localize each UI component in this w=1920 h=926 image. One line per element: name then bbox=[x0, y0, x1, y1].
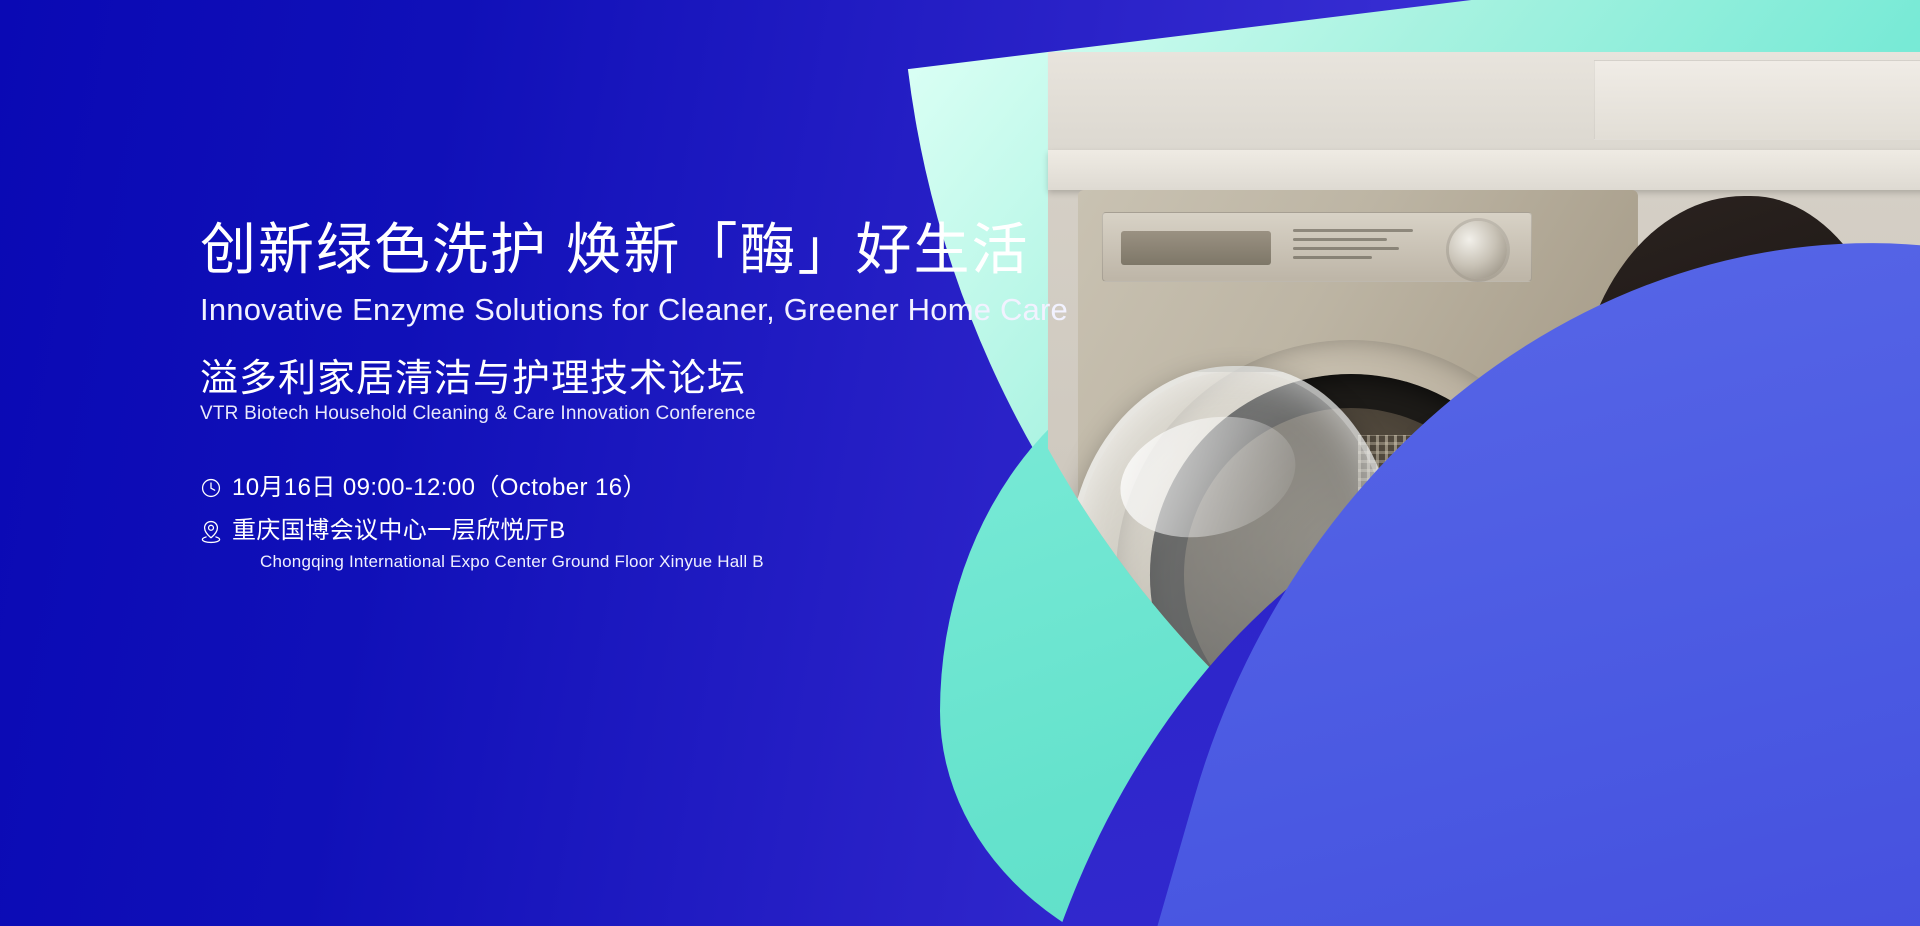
event-datetime-row: 10月16日 09:00-12:00（October 16） bbox=[200, 474, 960, 503]
conference-banner: 创新绿色洗护 焕新「酶」好生活 Innovative Enzyme Soluti… bbox=[0, 0, 1920, 926]
event-details: 10月16日 09:00-12:00（October 16） 重庆国博会议中心一… bbox=[200, 474, 960, 588]
venue-text-english: Chongqing International Expo Center Grou… bbox=[260, 549, 764, 575]
main-title-chinese: 创新绿色洗护 焕新「酶」好生活 bbox=[200, 222, 1030, 278]
main-title-english: Innovative Enzyme Solutions for Cleaner,… bbox=[200, 294, 1068, 325]
banner-content: 创新绿色洗护 焕新「酶」好生活 Innovative Enzyme Soluti… bbox=[200, 0, 1080, 926]
subtitle-chinese: 溢多利家居清洁与护理技术论坛 bbox=[200, 360, 746, 398]
subtitle-english: VTR Biotech Household Cleaning & Care In… bbox=[200, 404, 756, 423]
event-datetime-text: 10月16日 09:00-12:00（October 16） bbox=[232, 474, 647, 501]
location-pin-icon bbox=[200, 520, 232, 546]
venue-text-chinese: 重庆国博会议中心一层欣悦厅B bbox=[232, 517, 566, 544]
detergent-drawer bbox=[1121, 231, 1271, 265]
photo-wall bbox=[1048, 52, 1920, 150]
event-venue-row: 重庆国博会议中心一层欣悦厅B Chongqing International E… bbox=[200, 517, 960, 574]
clock-icon bbox=[200, 477, 232, 503]
